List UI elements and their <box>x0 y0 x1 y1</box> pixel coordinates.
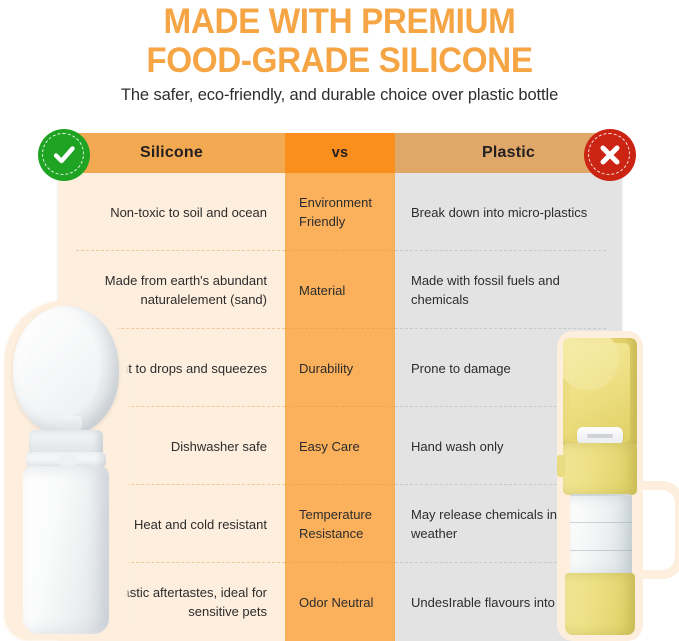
cell-attribute: Environment Friendly <box>285 173 395 251</box>
table-row: Made from earth's abundant naturalelemen… <box>58 251 622 329</box>
table-body: Non-toxic to soil and ocean Environment … <box>58 173 622 641</box>
table-row: Heat and cold resistant Temperature Resi… <box>58 485 622 563</box>
white-bottle-latch <box>59 454 76 466</box>
yellow-bottle-clip <box>557 455 565 477</box>
check-badge-icon <box>38 129 90 181</box>
cell-plastic: Made with fossil fuels and chemicals <box>395 251 622 329</box>
x-badge-icon <box>584 129 636 181</box>
column-header-vs-label: vs <box>332 145 349 161</box>
x-badge-disc <box>584 129 636 181</box>
table-header-row: Silicone vs Plastic <box>58 133 622 173</box>
table-row: Dishwasher safe Easy Care Hand wash only <box>58 407 622 485</box>
cell-attribute: Odor Neutral <box>285 563 395 641</box>
white-bottle-tab <box>56 416 82 430</box>
cell-attribute: Durability <box>285 329 395 407</box>
white-bottle-bowl-inner <box>31 318 101 416</box>
column-header-silicone: Silicone <box>58 133 285 173</box>
yellow-plastic-bottle-image <box>551 331 675 641</box>
table-row: No plastic aftertastes, ideal for sensit… <box>58 563 622 641</box>
check-badge-disc <box>38 129 90 181</box>
yellow-bottle-clear-chamber <box>570 494 632 578</box>
page-title: MADE WITH PREMIUM FOOD-GRADE SILICONE <box>0 2 679 80</box>
infographic-root: MADE WITH PREMIUM FOOD-GRADE SILICONE Th… <box>0 0 679 641</box>
white-silicone-bottle-image <box>4 300 128 641</box>
table-row: Non-toxic to soil and ocean Environment … <box>58 173 622 251</box>
cell-attribute: Temperature Resistance <box>285 485 395 563</box>
yellow-bottle-cap <box>563 443 637 495</box>
cell-attribute: Material <box>285 251 395 329</box>
page-subtitle: The safer, eco-friendly, and durable cho… <box>0 86 679 105</box>
headline-line-2: FOOD-GRADE SILICONE <box>17 41 662 80</box>
cell-attribute: Easy Care <box>285 407 395 485</box>
column-header-silicone-label: Silicone <box>140 144 203 162</box>
column-header-vs: vs <box>285 133 395 173</box>
column-header-plastic-label: Plastic <box>482 144 535 162</box>
yellow-bottle-strap-loop <box>635 481 679 579</box>
white-bottle-body <box>23 466 109 634</box>
cell-plastic: Break down into micro-plastics <box>395 173 622 251</box>
yellow-bottle-base <box>565 573 635 635</box>
cell-silicone: Non-toxic to soil and ocean <box>58 173 285 251</box>
comparison-table: Silicone vs Plastic Non-toxic to soil an… <box>58 133 622 641</box>
table-row: Resililent to drops and squeezes Durabil… <box>58 329 622 407</box>
headline-line-1: MADE WITH PREMIUM <box>17 2 662 41</box>
